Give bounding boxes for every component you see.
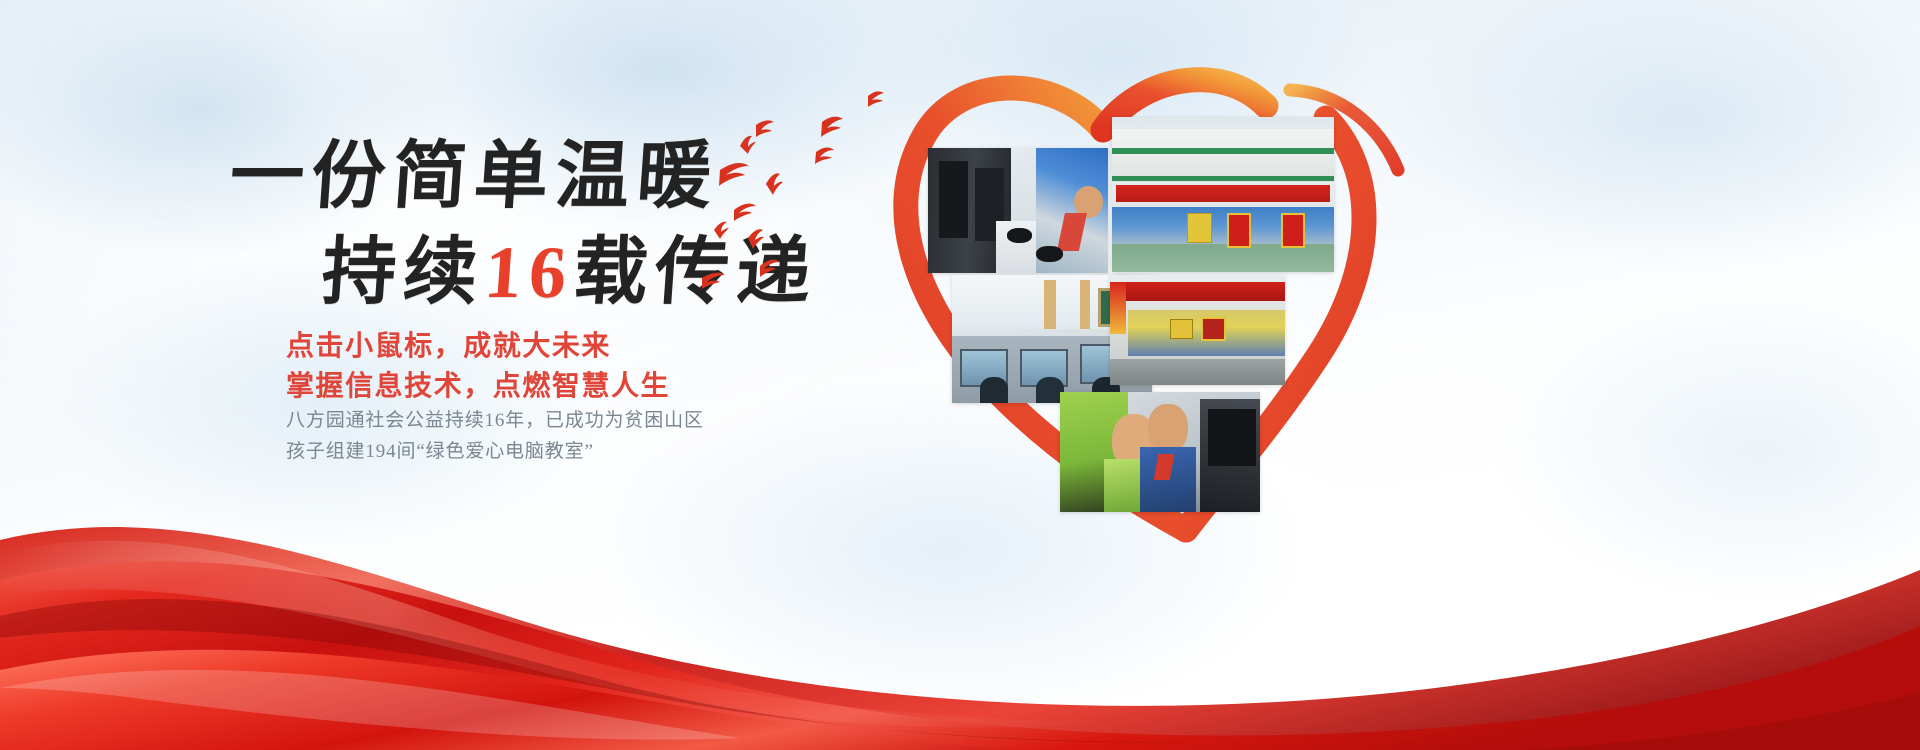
photo-award-ceremony (1110, 275, 1285, 385)
subheadline-block: 点击小鼠标，成就大未来 掌握信息技术，点燃智慧人生 (286, 326, 670, 406)
flying-birds-icon (700, 80, 930, 300)
photo-kids-computers-row (928, 148, 1108, 273)
subheadline-line-1: 点击小鼠标，成就大未来 (286, 326, 670, 366)
subheadline-line-2: 掌握信息技术，点燃智慧人生 (286, 366, 670, 406)
charity-banner: 一份简单温暖 持续16载传递 点击小鼠标，成就大未来 掌握信息技术，点燃智慧人生… (0, 0, 1920, 750)
headline-line-2-prefix: 持续 (319, 232, 488, 314)
headline-block: 一份简单温暖 持续16载传递 (0, 140, 820, 310)
red-silk-ribbon (0, 420, 1920, 750)
headline-years-number: 16 (482, 232, 577, 314)
photo-school-donation-ceremony (1112, 117, 1334, 272)
